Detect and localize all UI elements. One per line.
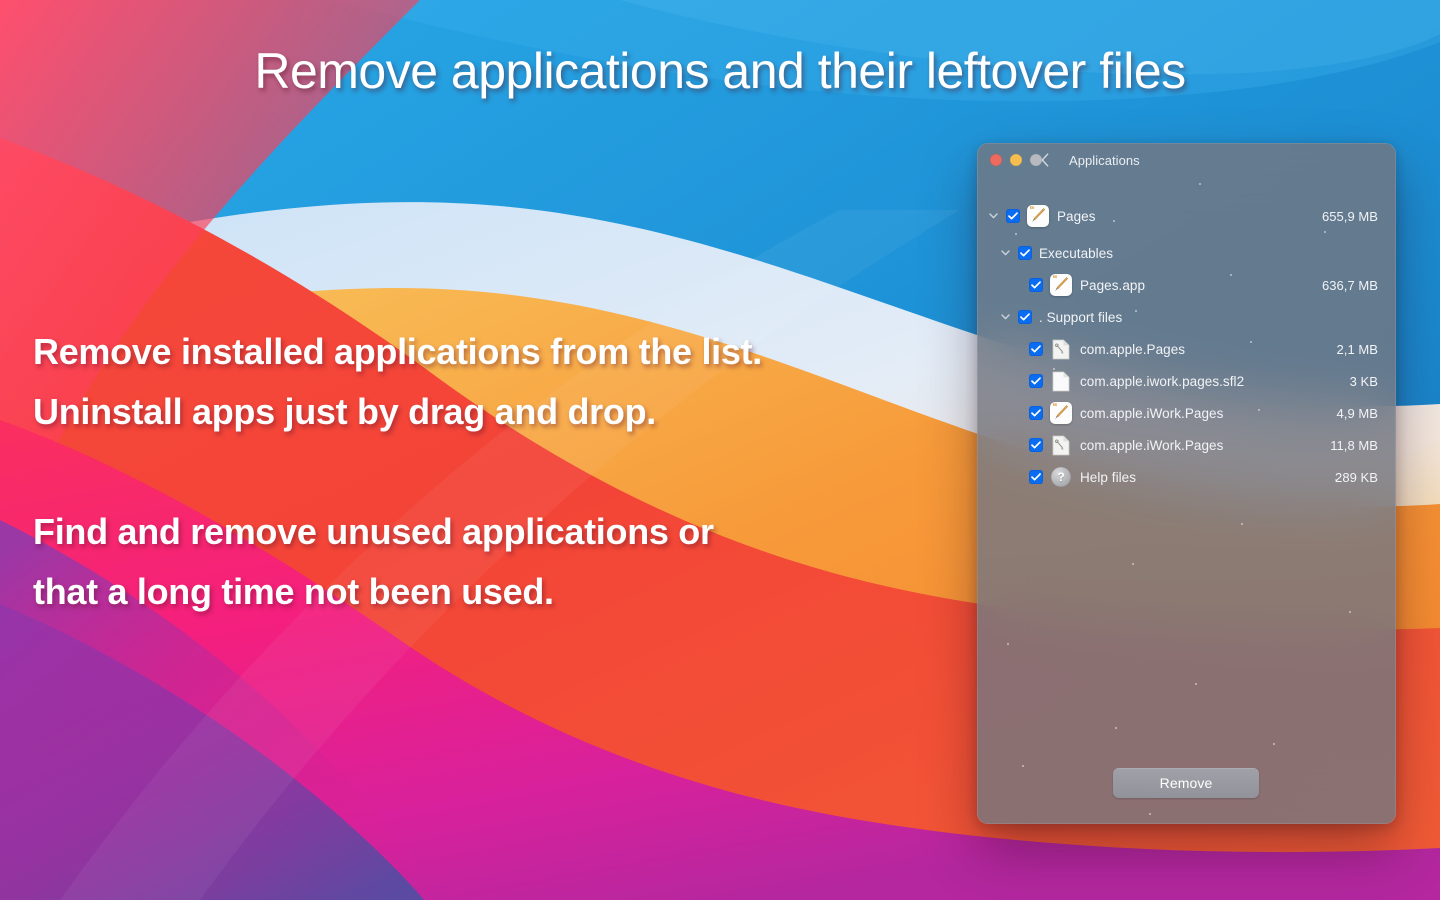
- row-size: 636,7 MB: [1322, 278, 1378, 293]
- row-label: Pages: [1057, 209, 1096, 224]
- plist-document-icon: [1050, 338, 1072, 360]
- speckle: [1241, 523, 1243, 525]
- row-label: com.apple.iWork.Pages: [1080, 438, 1223, 453]
- row-size: 11,8 MB: [1330, 438, 1378, 453]
- window-titlebar[interactable]: Applications: [977, 143, 1396, 178]
- help-question-icon: ?: [1050, 466, 1072, 488]
- row-checkbox[interactable]: [1029, 438, 1043, 452]
- speckle: [1132, 563, 1134, 565]
- speckle: [1149, 813, 1151, 815]
- file-tree-list[interactable]: “ Pages 655,9 MB: [977, 195, 1396, 493]
- pages-app-icon: “: [1027, 205, 1049, 227]
- table-row[interactable]: “ com.apple.iWork.Pages 4,9 MB: [977, 397, 1396, 429]
- promo-paragraph-1-line-2: Uninstall apps just by drag and drop.: [33, 382, 762, 442]
- row-label: Pages.app: [1080, 278, 1145, 293]
- table-row[interactable]: Executables: [977, 237, 1396, 269]
- speckle: [1199, 183, 1201, 185]
- table-row[interactable]: ? Help files 289 KB: [977, 461, 1396, 493]
- promo-paragraph-1: Remove installed applications from the l…: [33, 322, 762, 442]
- row-label: Help files: [1080, 470, 1136, 485]
- row-checkbox[interactable]: [1029, 342, 1043, 356]
- plist-document-icon: [1050, 434, 1072, 456]
- chevron-down-icon[interactable]: [998, 246, 1012, 260]
- speckle: [1273, 743, 1275, 745]
- chevron-down-icon[interactable]: [986, 209, 1000, 223]
- row-size: 289 KB: [1335, 470, 1378, 485]
- promo-paragraph-2-line-1: Find and remove unused applications or: [33, 502, 714, 562]
- close-window-button[interactable]: [990, 154, 1002, 166]
- row-checkbox[interactable]: [1006, 209, 1020, 223]
- chevron-down-icon[interactable]: [998, 310, 1012, 324]
- promo-paragraph-2: Find and remove unused applications or t…: [33, 502, 714, 622]
- row-label: Executables: [1039, 246, 1113, 261]
- window-title: Applications: [1069, 153, 1140, 168]
- row-size: 655,9 MB: [1322, 209, 1378, 224]
- row-size: 4,9 MB: [1337, 406, 1378, 421]
- row-size: 2,1 MB: [1337, 342, 1378, 357]
- row-label: . Support files: [1039, 310, 1122, 325]
- row-checkbox[interactable]: [1029, 374, 1043, 388]
- table-row[interactable]: “ Pages.app 636,7 MB: [977, 269, 1396, 301]
- speckle: [1349, 611, 1351, 613]
- speckle: [1115, 727, 1117, 729]
- speckle: [1007, 643, 1009, 645]
- table-row[interactable]: com.apple.iwork.pages.sfl2 3 KB: [977, 365, 1396, 397]
- row-checkbox[interactable]: [1018, 310, 1032, 324]
- remove-button[interactable]: Remove: [1113, 768, 1259, 798]
- promo-headline: Remove applications and their leftover f…: [0, 42, 1440, 100]
- row-label: com.apple.iwork.pages.sfl2: [1080, 374, 1244, 389]
- table-row[interactable]: . Support files: [977, 301, 1396, 333]
- speckle: [1195, 683, 1197, 685]
- pages-app-icon: “: [1050, 274, 1072, 296]
- chevron-left-icon[interactable]: [1037, 151, 1053, 169]
- minimize-window-button[interactable]: [1010, 154, 1022, 166]
- row-label: com.apple.iWork.Pages: [1080, 406, 1223, 421]
- row-checkbox[interactable]: [1018, 246, 1032, 260]
- row-size: 3 KB: [1350, 374, 1378, 389]
- applications-window: Applications “: [977, 143, 1396, 824]
- blank-document-icon: [1050, 370, 1072, 392]
- row-checkbox[interactable]: [1029, 470, 1043, 484]
- row-checkbox[interactable]: [1029, 278, 1043, 292]
- promo-paragraph-1-line-1: Remove installed applications from the l…: [33, 322, 762, 382]
- table-row[interactable]: com.apple.iWork.Pages 11,8 MB: [977, 429, 1396, 461]
- row-checkbox[interactable]: [1029, 406, 1043, 420]
- promo-paragraph-2-line-2: that a long time not been used.: [33, 562, 714, 622]
- speckle: [1022, 765, 1024, 767]
- table-row[interactable]: com.apple.Pages 2,1 MB: [977, 333, 1396, 365]
- row-label: com.apple.Pages: [1080, 342, 1185, 357]
- table-row[interactable]: “ Pages 655,9 MB: [977, 200, 1396, 232]
- traffic-light-group: [990, 154, 1042, 166]
- pages-app-icon: “: [1050, 402, 1072, 424]
- screenshot-root: Remove applications and their leftover f…: [0, 0, 1440, 900]
